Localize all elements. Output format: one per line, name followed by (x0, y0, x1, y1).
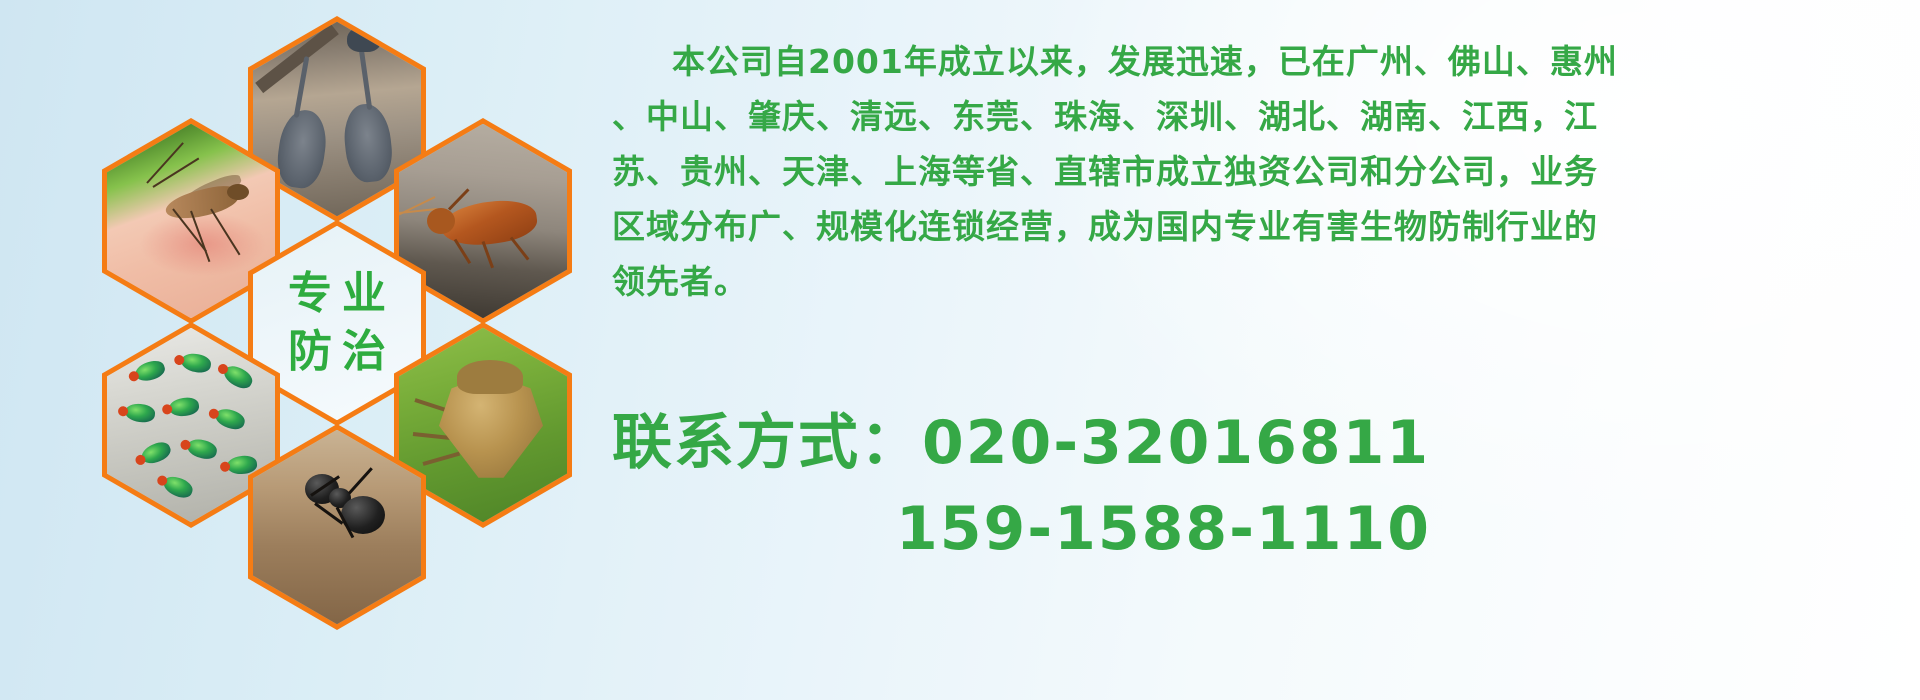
intro-line-1: 本公司自2001年成立以来，发展迅速，已在广州、佛山、惠州 (612, 34, 1912, 89)
intro-line-4: 区域分布广、规模化连锁经营，成为国内专业有害生物防制行业的 (612, 199, 1912, 254)
pest-control-banner: 专业 防治 (0, 0, 1920, 700)
intro-line-5: 领先者。 (612, 254, 1912, 309)
contact-block: 联系方式：020-32016811 159-1588-1110 (612, 400, 1912, 572)
slogan-line-1: 专业 (278, 265, 396, 323)
intro-line-2: 、中山、肇庆、清远、东莞、珠海、深圳、湖北、湖南、江西，江 (612, 89, 1912, 144)
contact-phone-secondary[interactable]: 159-1588-1110 (612, 486, 1912, 572)
ant-photo (253, 430, 421, 624)
honeycomb-collage: 专业 防治 (80, 0, 600, 580)
company-intro-block: 本公司自2001年成立以来，发展迅速，已在广州、佛山、惠州 、中山、肇庆、清远、… (612, 34, 1912, 309)
contact-phone-primary[interactable]: 联系方式：020-32016811 (612, 400, 1912, 486)
intro-line-3: 苏、贵州、天津、上海等省、直辖市成立独资公司和分公司，业务 (612, 144, 1912, 199)
slogan-line-2: 防治 (278, 323, 396, 381)
company-intro-text: 本公司自2001年成立以来，发展迅速，已在广州、佛山、惠州 、中山、肇庆、清远、… (612, 34, 1912, 309)
